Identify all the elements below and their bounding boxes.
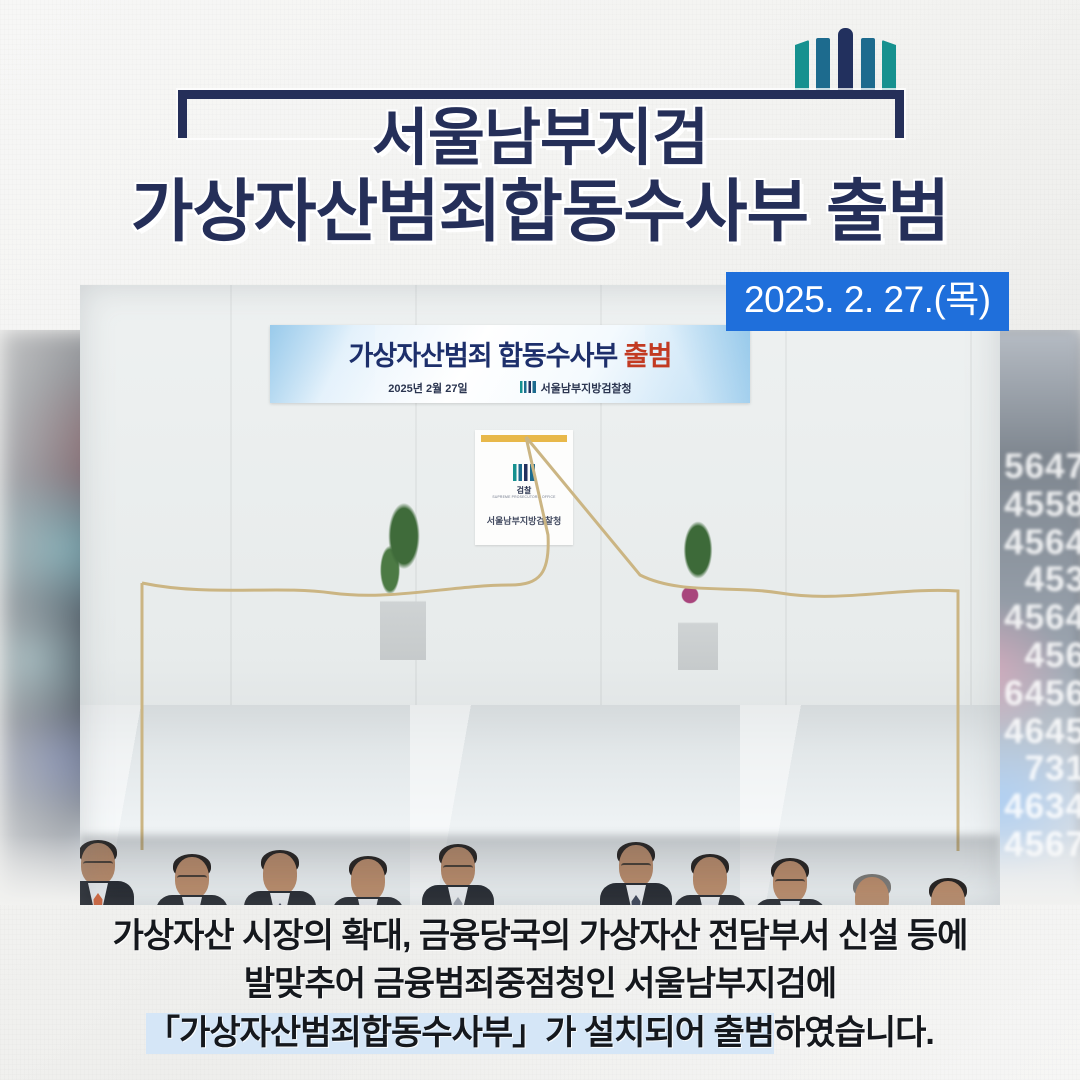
ceremony-photo: 가상자산범죄 합동수사부 출범 2025년 2월 27일 서울남부지방검찰청 검… xyxy=(80,285,1000,905)
caption-line-3-tail: 하였습니다. xyxy=(774,1014,934,1052)
caption-line-2: 발맞추어 금융범죄중점청인 서울남부지검에 xyxy=(0,960,1080,1008)
caption-block: 가상자산 시장의 확대, 금융당국의 가상자산 전담부서 신설 등에 발맞추어 … xyxy=(0,912,1080,1057)
logo-bar-4 xyxy=(861,38,875,90)
ceremonial-cord xyxy=(80,285,1000,905)
caption-line-1: 가상자산 시장의 확대, 금융당국의 가상자산 전담부서 신설 등에 xyxy=(0,912,1080,960)
caption-highlight: 「가상자산범죄합동수사부」가 설치되어 출범 xyxy=(146,1013,774,1054)
infographic-card: 서울남부지검 가상자산범죄합동수사부 출범 2025. 2. 27.(목) 56… xyxy=(0,0,1080,1080)
date-badge: 2025. 2. 27.(목) xyxy=(726,272,1009,331)
logo-bar-3 xyxy=(838,28,853,90)
logo-bar-2 xyxy=(816,38,830,90)
caption-line-3: 「가상자산범죄합동수사부」가 설치되어 출범하였습니다. xyxy=(0,1009,1080,1057)
prosecution-service-logo-icon xyxy=(795,28,895,90)
page-title-line-1: 서울남부지검 xyxy=(0,108,1080,170)
floor-reflection xyxy=(80,835,1000,905)
logo-bar-1 xyxy=(795,40,809,90)
page-title-line-2: 가상자산범죄합동수사부 출범 xyxy=(0,178,1080,246)
page-title: 서울남부지검 가상자산범죄합동수사부 출범 xyxy=(0,108,1080,246)
logo-bar-5 xyxy=(882,40,896,90)
